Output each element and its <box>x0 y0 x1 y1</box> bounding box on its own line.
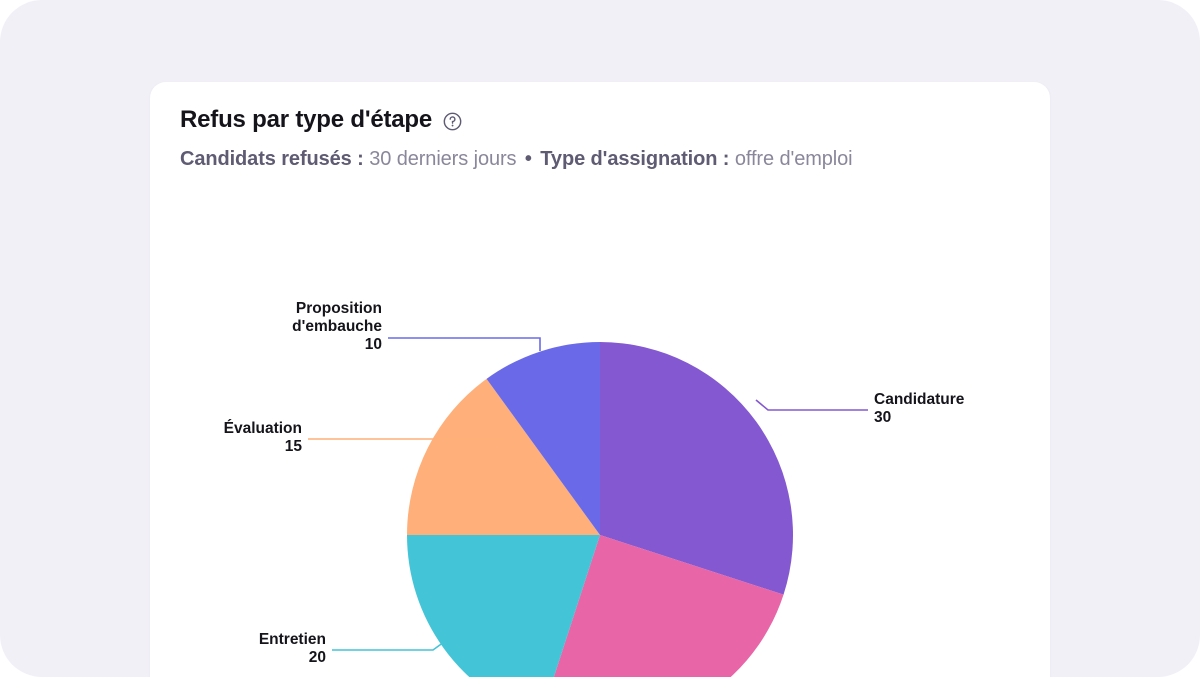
callout-label-candidature-line1: Candidature <box>874 391 964 409</box>
chart-subtitle: Candidats refusés : 30 derniers jours • … <box>180 148 1026 171</box>
subtitle-separator: • <box>522 148 535 170</box>
callout-label-evaluation: Évaluation 15 <box>150 420 302 456</box>
subtitle-value-2: offre d'emploi <box>735 148 853 170</box>
callout-label-proposition-line1: Proposition <box>150 300 382 318</box>
callout-label-proposition-value: 10 <box>150 336 382 354</box>
pie-slices <box>407 342 793 677</box>
callout-label-entretien-line1: Entretien <box>150 631 326 649</box>
callout-label-candidature: Candidature 30 <box>874 391 964 427</box>
help-circle-icon[interactable] <box>443 112 462 131</box>
title-row: Refus par type d'étape <box>180 106 1026 134</box>
callout-label-entretien: Entretien 20 <box>150 631 326 667</box>
callout-label-proposition-line2: d'embauche <box>150 318 382 336</box>
page-background: Refus par type d'étape Candidats refusés… <box>0 0 1200 677</box>
pie-chart-plot-area: Candidature 30 Présélection téléphonique… <box>150 202 1050 677</box>
callout-label-evaluation-value: 15 <box>150 438 302 456</box>
leader-line-entretien <box>332 642 444 650</box>
leader-line-proposition-embauche <box>388 338 540 351</box>
callout-label-proposition-embauche: Proposition d'embauche 10 <box>150 300 382 354</box>
callout-label-candidature-value: 30 <box>874 409 964 427</box>
callout-label-entretien-value: 20 <box>150 649 326 667</box>
subtitle-label-1: Candidats refusés : <box>180 148 364 170</box>
subtitle-label-2: Type d'assignation : <box>540 148 729 170</box>
chart-card: Refus par type d'étape Candidats refusés… <box>150 82 1050 677</box>
card-header: Refus par type d'étape Candidats refusés… <box>180 106 1026 171</box>
callout-label-evaluation-line1: Évaluation <box>150 420 302 438</box>
leader-line-candidature <box>756 400 868 410</box>
subtitle-value-1: 30 derniers jours <box>369 148 516 170</box>
page-title: Refus par type d'étape <box>180 106 432 134</box>
